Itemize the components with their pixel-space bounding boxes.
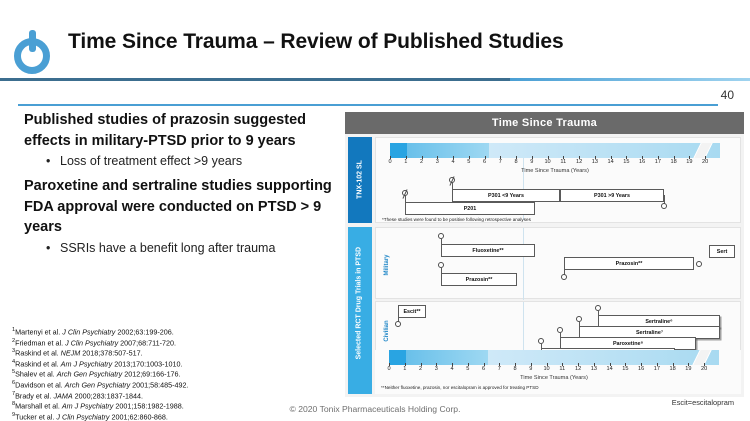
marker-escitalopram (395, 321, 401, 327)
bar-escitalopram: Escit** (398, 305, 426, 318)
axis-tick-label: 16 (638, 366, 644, 372)
scale-seg-0-1 (389, 350, 406, 365)
axis-tick-label: 18 (671, 159, 677, 165)
scale-seg-6-20 (488, 350, 719, 365)
content-top-rule (18, 104, 718, 106)
marker-prazosin-right-start (561, 274, 567, 280)
sidebar-tnx102sl: TNX-102 SL (348, 137, 372, 223)
scale-seg-0-1 (390, 143, 407, 158)
bottom-scale-bar (389, 350, 719, 365)
marker-prazosin-right-end (696, 261, 702, 267)
bar-p301-under9: P301 <9 Years (452, 189, 560, 202)
axis-tick-label: 13 (592, 159, 598, 165)
sidebar-selected-rct: Selected RCT Drug Trials in PTSD (348, 227, 372, 394)
axis-tick-label: 8 (514, 159, 517, 165)
figure-footnote-bottom: **Neither fluoxetine, prazosin, nor esci… (381, 385, 539, 390)
axis-tick-label: 7 (498, 366, 501, 372)
axis-tick-label: 3 (435, 366, 438, 372)
reference-item: 3Raskind et al. NEJM 2018;378:507-517. (12, 348, 312, 359)
scale-seg-6-20 (489, 143, 720, 158)
axis-tick-label: 20 (701, 366, 707, 372)
axis-tick-label: 0 (387, 366, 390, 372)
axis-tick-label: 12 (576, 159, 582, 165)
axis-tick-label: 11 (559, 366, 565, 372)
reference-item: 5Shalev et al. Arch Gen Psychiatry 2012;… (12, 369, 312, 380)
axis-tick-label: 16 (639, 159, 645, 165)
bar-p301-over9: P301 >9 Years (560, 189, 664, 202)
reference-item: 6Davidson et al. Arch Gen Psychiatry 200… (12, 380, 312, 391)
page-number: 40 (721, 88, 734, 102)
axis-tick-label: 15 (623, 159, 629, 165)
bottom-axis-caption: Time Since Trauma (Years) (389, 375, 719, 381)
axis-tick-label: 9 (529, 366, 532, 372)
time-since-trauma-figure: Time Since Trauma TNX-102 SL Selected RC… (345, 112, 744, 397)
axis-tick-label: 19 (686, 159, 692, 165)
axis-tick-label: 17 (655, 159, 661, 165)
scale-seg-1-6 (407, 143, 490, 158)
reference-item: 4Raskind et al. Am J Psychiatry 2013;170… (12, 359, 312, 370)
axis-tick-label: 3 (436, 159, 439, 165)
axis-tick-label: 14 (606, 366, 612, 372)
header-divider-dark (0, 78, 510, 81)
group-label-military: Military (384, 245, 390, 285)
sidebar-tnx102sl-label: TNX-102 SL (357, 150, 364, 210)
bar-fluoxetine: Fluoxetine** (441, 244, 535, 257)
bar-prazosin-right: Prazosin** (564, 257, 694, 270)
reference-item: 2Friedman et al. J Clin Psychiatry 2007;… (12, 338, 312, 349)
lead-statement-2: Paroxetine and sertraline studies suppor… (24, 176, 344, 238)
marker-p301-end (661, 203, 667, 209)
top-axis-caption: Time Since Trauma (Years) (390, 168, 720, 174)
lead-statement-1: Published studies of prazosin suggested … (24, 110, 344, 151)
figure-title: Time Since Trauma (345, 112, 744, 134)
slide-canvas: Time Since Trauma – Review of Published … (0, 0, 750, 421)
axis-tick-label: 15 (622, 366, 628, 372)
axis-tick-label: 2 (419, 366, 422, 372)
axis-tick-label: 13 (591, 366, 597, 372)
page-title: Time Since Trauma – Review of Published … (68, 30, 708, 54)
axis-tick-label: 1 (404, 159, 407, 165)
axis-tick-label: 18 (670, 366, 676, 372)
bullet-item-1: • Loss of treatment effect >9 years (24, 153, 344, 170)
escitalopram-abbrev-note: Escit=escitalopram (672, 398, 734, 407)
figure-footnote-top: *These studies were found to be positive… (382, 217, 531, 222)
left-content-column: Published studies of prazosin suggested … (24, 110, 344, 259)
copyright-notice: © 2020 Tonix Pharmaceuticals Holding Cor… (0, 404, 750, 414)
header-divider (0, 78, 750, 81)
axis-tick-label: 5 (466, 366, 469, 372)
scale-seg-1-6 (406, 350, 489, 365)
bullet-dot-icon: • (46, 153, 60, 170)
axis-tick-label: 9 (530, 159, 533, 165)
sidebar-selected-rct-label: Selected RCT Drug Trials in PTSD (356, 259, 365, 359)
panel-military: Military Fluoxetine** Prazosin** Prazosi… (375, 227, 741, 299)
top-scale-bar (390, 143, 720, 158)
panel-tnx102sl: 01234567891011121314151617181920 Time Si… (375, 137, 741, 223)
axis-tick-label: 2 (420, 159, 423, 165)
axis-tick-label: 0 (388, 159, 391, 165)
axis-tick-label: 14 (607, 159, 613, 165)
nine-year-reference-line-military (523, 228, 524, 300)
bullet-item-2-label: SSRIs have a benefit long after trauma (60, 240, 344, 257)
axis-tick-label: 7 (499, 159, 502, 165)
axis-tick-label: 4 (451, 159, 454, 165)
tonix-logo (10, 28, 56, 74)
axis-tick-label: 5 (467, 159, 470, 165)
axis-tick-label: 6 (483, 159, 486, 165)
bullet-dot-icon: • (46, 240, 60, 257)
reference-item: 1Martenyi et al. J Clin Psychiatry 2002;… (12, 327, 312, 338)
axis-tick-label: 4 (450, 366, 453, 372)
nine-year-reference-line-civilian (523, 302, 524, 352)
axis-tick-label: 10 (543, 366, 549, 372)
bar-prazosin-left: Prazosin** (441, 273, 517, 286)
reference-item: 7Brady et al. JAMA 2000;283:1837-1844. (12, 391, 312, 402)
axis-tick-label: 11 (560, 159, 566, 165)
axis-tick-label: 12 (575, 366, 581, 372)
axis-tick-label: 6 (482, 366, 485, 372)
group-label-civilian: Civilian (384, 311, 390, 351)
axis-tick-label: 17 (654, 366, 660, 372)
logo-stem-icon (29, 30, 36, 52)
axis-tick-label: 20 (702, 159, 708, 165)
bar-p201: P201 (405, 202, 535, 215)
panel-bottom-axis: 01234567891011121314151617181920 Time Si… (375, 350, 741, 394)
bar-sertraline-military: Sert (709, 245, 735, 258)
axis-tick-label: 1 (403, 366, 406, 372)
bullet-item-1-label: Loss of treatment effect >9 years (60, 153, 344, 170)
axis-tick-label: 8 (513, 366, 516, 372)
axis-tick-label: 10 (544, 159, 550, 165)
bullet-item-2: • SSRIs have a benefit long after trauma (24, 240, 344, 257)
axis-tick-label: 19 (685, 366, 691, 372)
header-divider-light (510, 78, 750, 81)
